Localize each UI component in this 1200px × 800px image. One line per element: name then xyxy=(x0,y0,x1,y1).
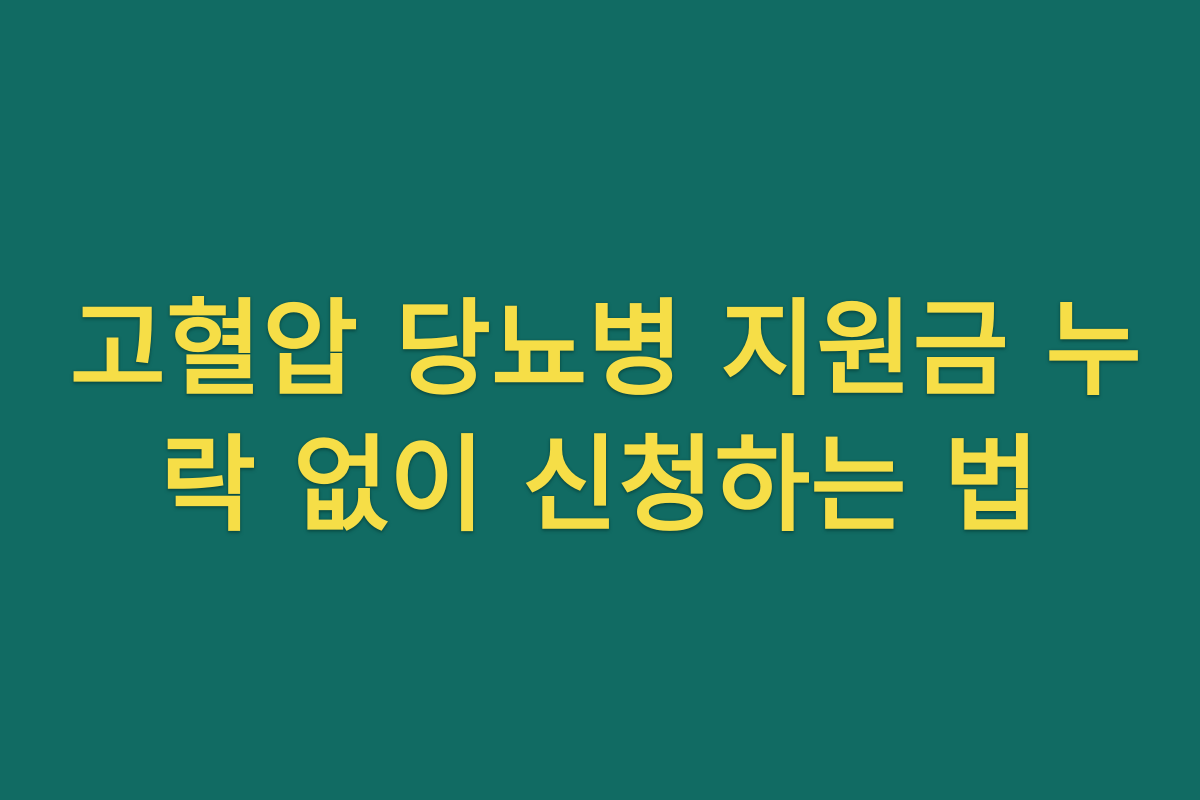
thumbnail-canvas: 고혈압 당뇨병 지원금 누 락 없이 신청하는 법 xyxy=(0,0,1200,800)
title-line-2: 락 없이 신청하는 법 xyxy=(70,417,1130,553)
page-title: 고혈압 당뇨병 지원금 누 락 없이 신청하는 법 xyxy=(70,281,1130,553)
title-line-1: 고혈압 당뇨병 지원금 누 xyxy=(70,281,1130,417)
